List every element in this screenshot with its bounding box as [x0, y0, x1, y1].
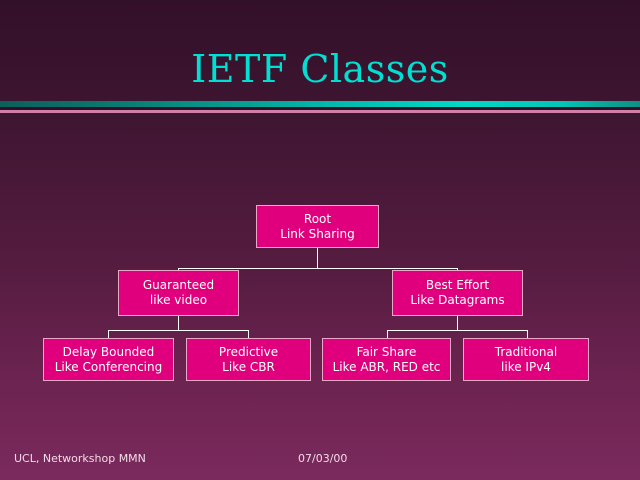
node-traditional-line2: like IPv4: [501, 360, 551, 375]
connector-to-fair-share: [387, 330, 388, 338]
node-best-effort-line1: Best Effort: [426, 278, 489, 293]
node-best-effort[interactable]: Best Effort Like Datagrams: [392, 270, 523, 316]
connector-best-effort-stem: [457, 316, 458, 330]
node-fair-share-line2: Like ABR, RED etc: [333, 360, 441, 375]
slide: IETF Classes Root Link Sharing Guarantee…: [0, 0, 640, 480]
slide-footer: UCL, Networkshop MMN 07/03/00: [0, 452, 640, 480]
node-delay-bounded-line1: Delay Bounded: [63, 345, 155, 360]
node-guaranteed-line1: Guaranteed: [143, 278, 214, 293]
footer-date: 07/03/00: [298, 452, 347, 466]
footer-attribution: UCL, Networkshop MMN: [14, 452, 146, 466]
node-root[interactable]: Root Link Sharing: [256, 205, 379, 248]
connector-root-stem: [317, 248, 318, 268]
node-traditional[interactable]: Traditional like IPv4: [463, 338, 589, 381]
node-guaranteed[interactable]: Guaranteed like video: [118, 270, 239, 316]
connector-right-bus: [387, 330, 528, 331]
node-predictive-line2: Like CBR: [222, 360, 275, 375]
connector-level2-bus: [178, 268, 458, 269]
node-best-effort-line2: Like Datagrams: [410, 293, 504, 308]
node-predictive-line1: Predictive: [219, 345, 278, 360]
node-root-line1: Root: [304, 212, 331, 227]
node-delay-bounded-line2: Like Conferencing: [55, 360, 162, 375]
connector-left-bus: [108, 330, 249, 331]
node-guaranteed-line2: like video: [150, 293, 207, 308]
node-root-line2: Link Sharing: [280, 227, 354, 242]
node-traditional-line1: Traditional: [495, 345, 557, 360]
connector-to-traditional: [527, 330, 528, 338]
connector-guaranteed-stem: [178, 316, 179, 330]
ietf-classes-tree-diagram: Root Link Sharing Guaranteed like video …: [0, 0, 640, 480]
node-fair-share[interactable]: Fair Share Like ABR, RED etc: [322, 338, 451, 381]
node-fair-share-line1: Fair Share: [357, 345, 417, 360]
node-delay-bounded[interactable]: Delay Bounded Like Conferencing: [43, 338, 174, 381]
connector-to-predictive: [248, 330, 249, 338]
connector-to-delay-bounded: [108, 330, 109, 338]
node-predictive[interactable]: Predictive Like CBR: [186, 338, 311, 381]
